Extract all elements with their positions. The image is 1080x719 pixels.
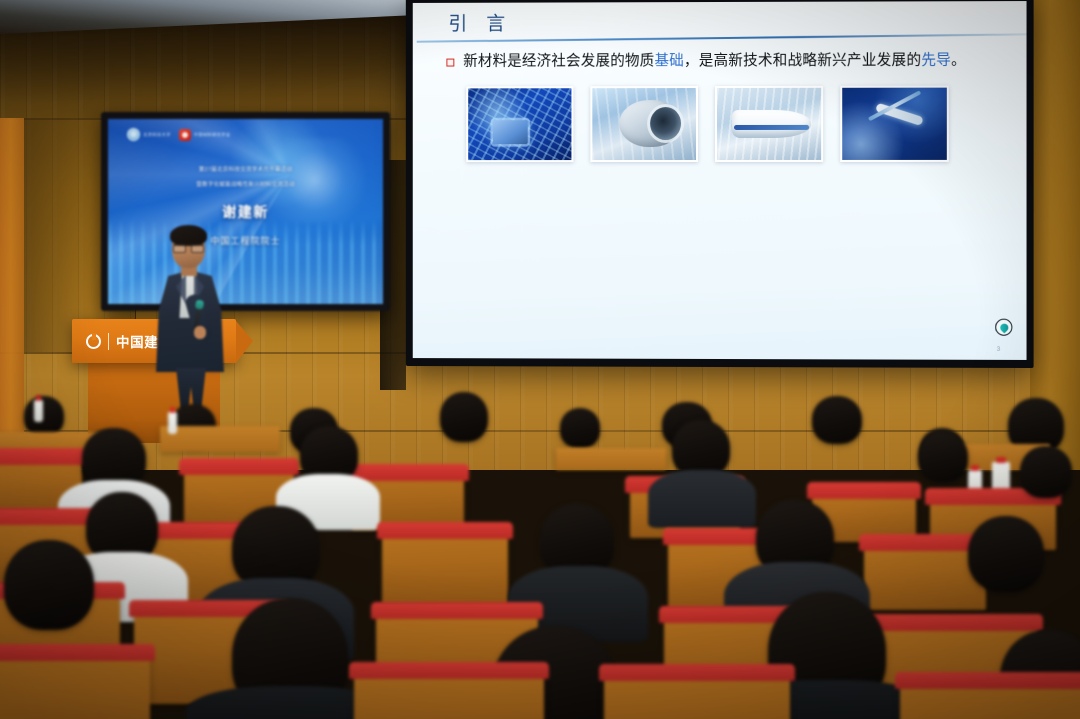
- projection-screen: 引 言 新材料是经济社会发展的物质基础，是高新技术和战略新兴产业发展的先导。 3: [406, 0, 1034, 368]
- auditorium-seat: [382, 526, 508, 604]
- audience-head: [1020, 446, 1072, 498]
- slide-canvas: 引 言 新材料是经济社会发展的物质基础，是高新技术和战略新兴产业发展的先导。 3: [413, 1, 1027, 360]
- auditorium-seat: [604, 668, 790, 719]
- event-title-line-1: 第27届北京科技交流学术月开幕活动: [108, 165, 383, 173]
- slide-photo-strip: [466, 86, 949, 162]
- event-title-line-2: 暨数字化赋能战略性新兴材料交流活动: [108, 180, 383, 188]
- bullet-segment-1: 新材料是经济社会发展的物质: [463, 53, 654, 69]
- tv-logo-row: 北京科技大学 中国材料研究学会: [127, 128, 230, 141]
- bullet-highlight-1: 基础: [654, 53, 684, 69]
- cbma-circle-logo-icon: [86, 334, 101, 349]
- audience-area: [0, 380, 1080, 719]
- audience-shoulders: [648, 470, 756, 528]
- water-bottle: [34, 400, 43, 422]
- desk: [160, 426, 280, 452]
- audience-head: [4, 540, 94, 630]
- audience-head: [968, 516, 1044, 592]
- desk: [556, 448, 666, 470]
- speaker-name: 谢建新: [108, 202, 383, 222]
- slide-bullet-text: 新材料是经济社会发展的物质基础，是高新技术和战略新兴产业发展的先导。: [463, 51, 966, 72]
- presenter-hand: [194, 326, 206, 339]
- auditorium-seat: [900, 676, 1080, 719]
- university-emblem-logo: 北京科技大学: [127, 128, 171, 141]
- university-emblem-icon: [127, 128, 140, 141]
- podium-divider: [108, 333, 109, 350]
- integrated-circuit-chip-photo: [466, 86, 573, 162]
- square-bullet-icon: [446, 59, 454, 67]
- presenter-hair: [170, 225, 207, 246]
- bullet-segment-3: 。: [951, 52, 966, 68]
- auditorium-seat: [354, 666, 544, 719]
- bullet-segment-2: ，是高新技术和战略新兴产业发展的: [684, 53, 921, 70]
- association-logo-label: 中国材料研究学会: [194, 132, 231, 138]
- high-speed-train-photo: [715, 86, 823, 162]
- auditorium-seat: [0, 648, 150, 719]
- presenter-display-tv: 北京科技大学 中国材料研究学会 第27届北京科技交流学术月开幕活动 暨数字化赋能…: [101, 112, 390, 311]
- space-station-photo: [840, 86, 949, 162]
- association-red-logo: 中国材料研究学会: [179, 129, 231, 141]
- audience-head: [440, 392, 488, 442]
- slide-bullet: 新材料是经济社会发展的物质基础，是高新技术和战略新兴产业发展的先导。: [446, 51, 1004, 72]
- audience-head: [918, 432, 968, 482]
- glasses-icon: [173, 244, 204, 251]
- association-emblem-icon: [179, 129, 191, 141]
- slide-page-number: 3: [997, 347, 1000, 353]
- jet-engine-photo: [590, 86, 698, 162]
- audience-head: [812, 396, 862, 444]
- lecture-hall-photo: 北京科技大学 中国材料研究学会 第27届北京科技交流学术月开幕活动 暨数字化赋能…: [0, 0, 1080, 719]
- teal-drop-logo-icon: [995, 319, 1012, 336]
- slide-title: 引 言: [448, 9, 512, 36]
- bullet-highlight-2: 先导: [921, 52, 951, 68]
- university-logo-label: 北京科技大学: [143, 132, 171, 138]
- audience-head: [24, 396, 64, 436]
- water-bottle: [168, 412, 177, 434]
- audience-head: [560, 408, 600, 448]
